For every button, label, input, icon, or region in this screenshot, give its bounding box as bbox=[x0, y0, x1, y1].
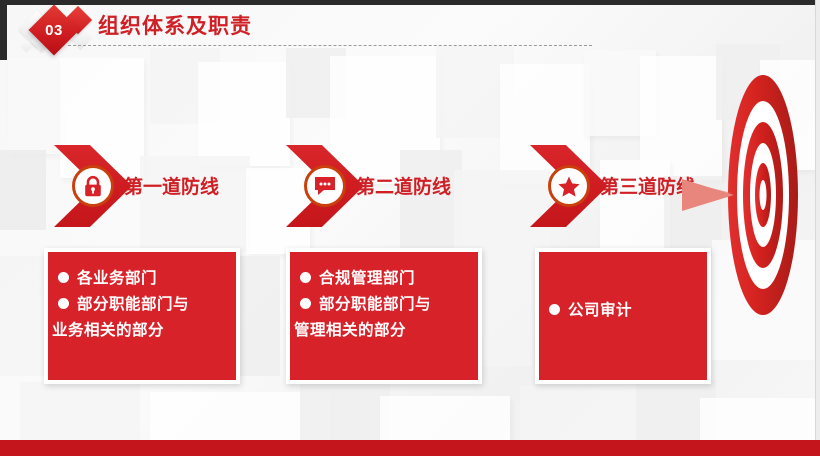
content-line: 业务相关的部分 bbox=[52, 318, 226, 344]
chat-bubble-icon bbox=[304, 165, 346, 207]
bg-square bbox=[400, 150, 462, 254]
bg-square bbox=[520, 386, 640, 440]
bg-square bbox=[380, 396, 510, 440]
star-icon bbox=[548, 165, 590, 207]
window-frame-top bbox=[0, 0, 820, 5]
slide-canvas: 03 组织体系及职责 第一道防线 各业务部门 部分职能部门与 业务相关的部分 bbox=[0, 0, 820, 456]
content-box-inner: 公司审计 bbox=[539, 252, 707, 380]
bg-square bbox=[700, 398, 820, 440]
content-line: 合规管理部门 bbox=[300, 266, 468, 292]
content-box-inner: 合规管理部门 部分职能部门与 管理相关的部分 bbox=[290, 252, 478, 354]
content-line: 管理相关的部分 bbox=[294, 318, 468, 344]
content-text: 合规管理部门 bbox=[319, 270, 415, 287]
content-text: 公司审计 bbox=[568, 302, 632, 319]
bullet-dot-icon bbox=[549, 304, 560, 315]
window-frame-right bbox=[815, 0, 820, 456]
bg-square bbox=[240, 256, 280, 376]
chevron-line-1[interactable] bbox=[54, 145, 132, 227]
content-text: 部分职能部门与 bbox=[319, 296, 431, 313]
bg-square bbox=[198, 62, 290, 166]
chevron-label-line-1: 第一道防线 bbox=[124, 172, 219, 199]
target-bullseye-center bbox=[760, 180, 767, 210]
chevron-label-line-3: 第三道防线 bbox=[600, 172, 695, 199]
chevron-line-2[interactable] bbox=[286, 145, 364, 227]
bg-square bbox=[0, 256, 44, 376]
content-text: 各业务部门 bbox=[77, 270, 157, 287]
content-line: 各业务部门 bbox=[58, 266, 226, 292]
bullet-dot-icon bbox=[300, 272, 311, 283]
content-box-line-2[interactable]: 合规管理部门 部分职能部门与 管理相关的部分 bbox=[286, 248, 482, 384]
content-text: 业务相关的部分 bbox=[52, 322, 164, 339]
bullet-dot-icon bbox=[58, 272, 69, 283]
bullet-dot-icon bbox=[300, 298, 311, 309]
section-number-label: 03 bbox=[36, 12, 72, 48]
content-line: 公司审计 bbox=[549, 298, 632, 324]
arrow-head bbox=[682, 179, 734, 211]
bg-square bbox=[20, 382, 140, 440]
bg-square bbox=[140, 156, 250, 252]
window-frame-left bbox=[0, 0, 7, 60]
header-divider bbox=[68, 45, 592, 46]
content-box-line-3[interactable]: 公司审计 bbox=[535, 248, 711, 384]
bg-square bbox=[0, 150, 46, 230]
bg-square bbox=[300, 382, 390, 440]
section-number-badge: 03 bbox=[14, 2, 102, 58]
bullseye-target bbox=[726, 75, 800, 315]
content-text: 管理相关的部分 bbox=[294, 322, 406, 339]
content-text: 部分职能部门与 bbox=[77, 296, 189, 313]
chevron-label-line-2: 第二道防线 bbox=[356, 172, 451, 199]
bullet-dot-icon bbox=[58, 298, 69, 309]
bottom-accent-bar bbox=[0, 440, 820, 456]
page-title: 组织体系及职责 bbox=[98, 10, 252, 40]
content-line: 部分职能部门与 bbox=[58, 292, 226, 318]
content-line: 部分职能部门与 bbox=[300, 292, 468, 318]
content-box-line-1[interactable]: 各业务部门 部分职能部门与 业务相关的部分 bbox=[44, 248, 240, 384]
slide-header: 03 组织体系及职责 bbox=[0, 0, 820, 62]
lock-icon bbox=[72, 165, 114, 207]
bg-square bbox=[8, 58, 60, 154]
content-box-inner: 各业务部门 部分职能部门与 业务相关的部分 bbox=[48, 252, 236, 354]
chevron-line-3[interactable] bbox=[530, 145, 608, 227]
